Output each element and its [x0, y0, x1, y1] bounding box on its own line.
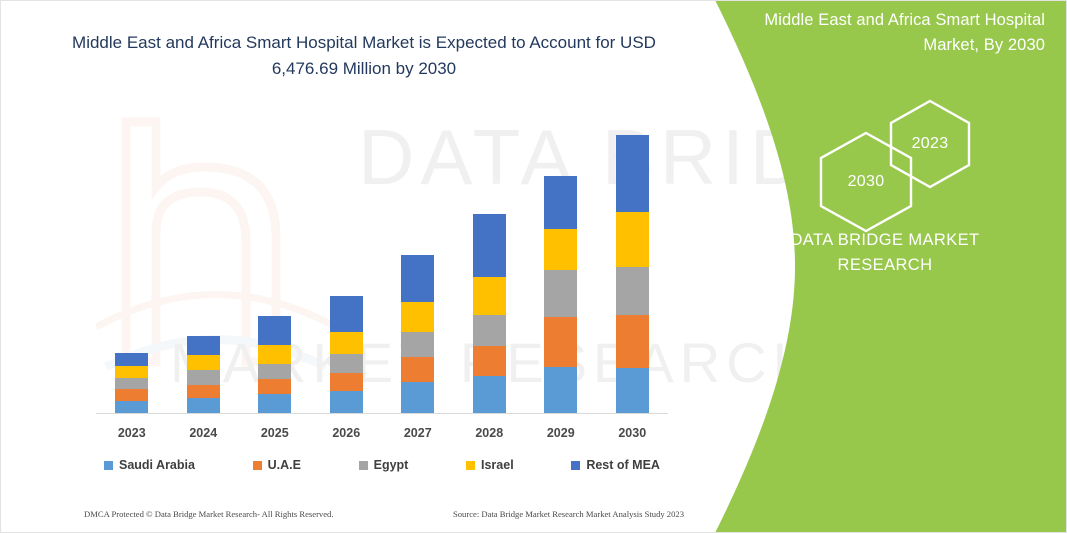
infographic-slide: DATA BRIDGE MARKET RESEARCH Middle East … — [0, 0, 1067, 533]
bar-2026 — [330, 296, 363, 413]
bar-segment-rest-of-mea — [258, 316, 291, 345]
x-axis-label-2030: 2030 — [616, 426, 649, 440]
hexagon-group: 2030 2023 — [832, 98, 972, 208]
bar-segment-saudi-arabia — [544, 367, 577, 413]
bar-2024 — [187, 336, 220, 413]
bar-2025 — [258, 316, 291, 413]
bar-segment-egypt — [473, 315, 506, 346]
chart-legend: Saudi ArabiaU.A.EEgyptIsraelRest of MEA — [96, 454, 668, 476]
x-axis-label-2025: 2025 — [258, 426, 291, 440]
bar-segment-u-a-e — [258, 379, 291, 394]
bar-segment-saudi-arabia — [401, 382, 434, 413]
bar-2023 — [115, 353, 148, 413]
bar-segment-israel — [401, 302, 434, 332]
bar-segment-saudi-arabia — [473, 376, 506, 413]
legend-item-u-a-e[interactable]: U.A.E — [253, 458, 301, 472]
bar-segment-egypt — [616, 267, 649, 315]
legend-item-saudi-arabia[interactable]: Saudi Arabia — [104, 458, 195, 472]
bar-segment-saudi-arabia — [115, 401, 148, 413]
legend-swatch-icon — [466, 461, 475, 470]
bar-segment-u-a-e — [187, 385, 220, 398]
hexagon-2023: 2023 — [888, 98, 972, 190]
footer: DMCA Protected © Data Bridge Market Rese… — [84, 506, 684, 522]
x-axis-label-2028: 2028 — [473, 426, 506, 440]
x-axis-label-2029: 2029 — [544, 426, 577, 440]
legend-item-israel[interactable]: Israel — [466, 458, 514, 472]
bar-segment-egypt — [187, 370, 220, 385]
bar-segment-israel — [473, 277, 506, 315]
bar-segment-u-a-e — [115, 389, 148, 401]
bar-segment-rest-of-mea — [616, 135, 649, 212]
bar-segment-egypt — [258, 364, 291, 379]
bar-segment-israel — [616, 212, 649, 267]
legend-label: Israel — [481, 458, 514, 472]
brand-panel: Middle East and Africa Smart Hospital Ma… — [667, 0, 1067, 533]
bar-segment-egypt — [544, 270, 577, 317]
bar-segment-egypt — [401, 332, 434, 357]
chart-title: Middle East and Africa Smart Hospital Ma… — [70, 30, 658, 83]
bar-chart-plot-area — [96, 103, 668, 413]
x-axis-label-2026: 2026 — [330, 426, 363, 440]
brand-name: DATA BRIDGE MARKET RESEARCH — [751, 228, 1019, 278]
legend-label: Egypt — [374, 458, 409, 472]
bar-2029 — [544, 176, 577, 413]
bar-segment-israel — [544, 229, 577, 270]
bar-segment-saudi-arabia — [187, 398, 220, 413]
bar-segment-saudi-arabia — [330, 391, 363, 413]
footer-copyright: DMCA Protected © Data Bridge Market Rese… — [84, 509, 334, 519]
bar-segment-u-a-e — [473, 346, 506, 376]
hexagon-2023-label: 2023 — [888, 98, 972, 190]
legend-label: Rest of MEA — [586, 458, 660, 472]
bar-segment-rest-of-mea — [115, 353, 148, 366]
bar-segment-rest-of-mea — [330, 296, 363, 332]
legend-swatch-icon — [104, 461, 113, 470]
bar-segment-egypt — [330, 354, 363, 373]
x-axis-labels: 20232024202520262027202820292030 — [96, 422, 668, 444]
bar-segment-rest-of-mea — [544, 176, 577, 229]
brand-panel-heading: Middle East and Africa Smart Hospital Ma… — [725, 8, 1045, 58]
legend-swatch-icon — [253, 461, 262, 470]
bar-segment-israel — [115, 366, 148, 378]
legend-swatch-icon — [359, 461, 368, 470]
bar-segment-u-a-e — [544, 317, 577, 367]
bar-2027 — [401, 255, 434, 413]
bar-segment-u-a-e — [330, 373, 363, 391]
legend-label: Saudi Arabia — [119, 458, 195, 472]
x-axis-label-2023: 2023 — [115, 426, 148, 440]
bar-segment-israel — [258, 345, 291, 364]
bar-segment-rest-of-mea — [187, 336, 220, 355]
bar-segment-u-a-e — [401, 357, 434, 382]
bar-2028 — [473, 214, 506, 413]
bar-segment-saudi-arabia — [616, 368, 649, 413]
bar-segment-israel — [187, 355, 220, 370]
bar-2030 — [616, 135, 649, 413]
x-axis-label-2024: 2024 — [187, 426, 220, 440]
legend-item-rest-of-mea[interactable]: Rest of MEA — [571, 458, 660, 472]
bar-segment-rest-of-mea — [401, 255, 434, 302]
x-axis-line — [96, 413, 668, 414]
x-axis-label-2027: 2027 — [401, 426, 434, 440]
bar-segment-egypt — [115, 378, 148, 389]
bar-segment-u-a-e — [616, 315, 649, 368]
legend-item-egypt[interactable]: Egypt — [359, 458, 409, 472]
legend-label: U.A.E — [268, 458, 301, 472]
footer-source: Source: Data Bridge Market Research Mark… — [453, 509, 684, 519]
legend-swatch-icon — [571, 461, 580, 470]
bar-segment-saudi-arabia — [258, 394, 291, 413]
bar-segment-rest-of-mea — [473, 214, 506, 277]
bar-segment-israel — [330, 332, 363, 354]
